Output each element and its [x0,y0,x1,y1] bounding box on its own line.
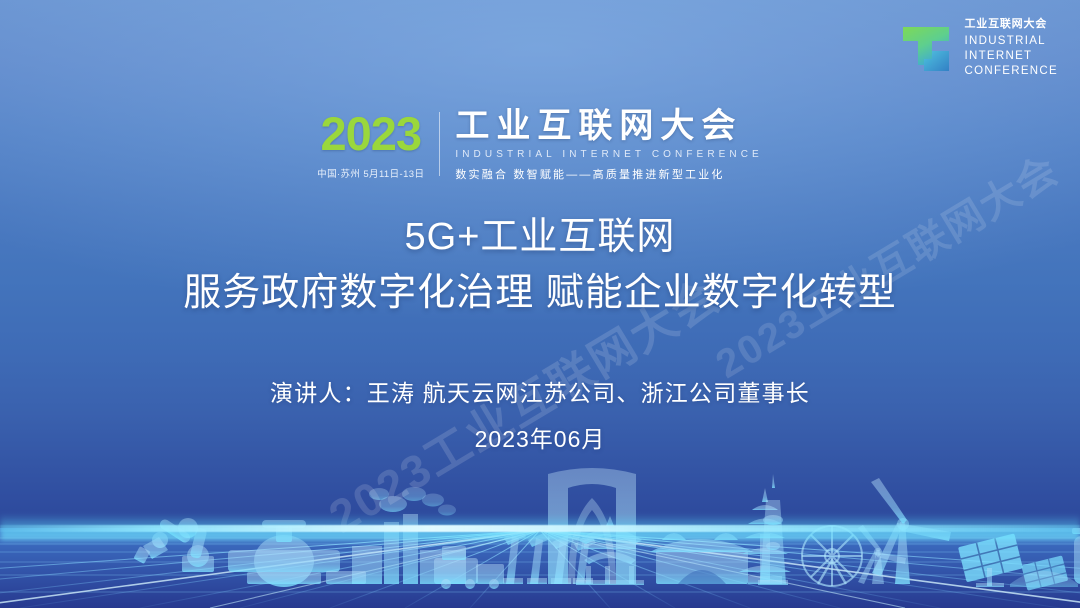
oil-pump-jack-icon [503,530,596,584]
locomotive-icon [326,546,504,589]
event-title-block: 工业互联网大会 INDUSTRIAL INTERNET CONFERENCE 数… [440,108,762,182]
pagoda-icon [739,488,791,584]
logo-en-line-2: INTERNET [964,49,1058,64]
presenter-block: 演讲人：王涛 航天云网江苏公司、浙江公司董事长 2023年06月 [0,374,1080,454]
logo-cn-name: 工业互联网大会 [964,19,1058,30]
event-city-date: 中国·苏州 5月11日-13日 [317,166,424,180]
traditional-hall-icon [650,533,754,584]
industrial-internet-conference-logo-icon [899,21,953,77]
gate-of-the-orient-icon [548,468,636,584]
solar-panel-icon [1021,555,1068,590]
storage-tank-icon [1072,528,1080,584]
event-title-cn: 工业互联网大会 [455,108,762,145]
pipeline-valve-icon [228,520,340,587]
event-title-en: INDUSTRIAL INTERNET CONFERENCE [455,149,762,160]
logo-en-line-1: INDUSTRIAL [964,34,1058,49]
horizon-line [0,525,1080,532]
conference-logo: 工业互联网大会 INDUSTRIAL INTERNET CONFERENCE [899,18,1058,80]
robot-arm-icon [133,518,214,572]
slide-headline: 5G+工业互联网 服务政府数字化治理 赋能企业数字化转型 [0,214,1080,317]
logo-en-name: INDUSTRIAL INTERNET CONFERENCE [964,34,1058,80]
logo-en-line-3: CONFERENCE [964,64,1058,79]
headline-line-1: 5G+工业互联网 [0,214,1080,262]
headline-line-2: 服务政府数字化治理 赋能企业数字化转型 [0,270,1080,318]
tv-tower-icon [758,474,788,585]
bridge-icon [1010,571,1078,587]
horizon-glow [0,514,1080,540]
presentation-slide: 2023工业互联网大会 2023工业互联网大会 [0,0,1080,608]
event-banner: 2023 中国·苏州 5月11日-13日 工业互联网大会 INDUSTRIAL … [0,108,1080,182]
event-year: 2023 [317,110,424,157]
event-slogan: 数实融合 数智赋能——高质量推进新型工业化 [455,166,762,182]
conference-logo-text: 工业互联网大会 INDUSTRIAL INTERNET CONFERENCE [964,18,1058,80]
chinese-pavilion-icon [576,516,644,585]
wind-turbine-icon [858,478,951,584]
ferris-wheel-icon [802,526,862,586]
event-year-block: 2023 中国·苏州 5月11日-13日 [317,108,439,182]
presenter-name: 演讲人：王涛 航天云网江苏公司、浙江公司董事长 [0,374,1080,408]
factory-smokestack-icon [352,487,466,584]
presentation-date: 2023年06月 [0,420,1080,454]
solar-panel-icon [958,533,1023,587]
cityscape-silhouette [0,428,1080,608]
perspective-grid [0,528,1080,608]
